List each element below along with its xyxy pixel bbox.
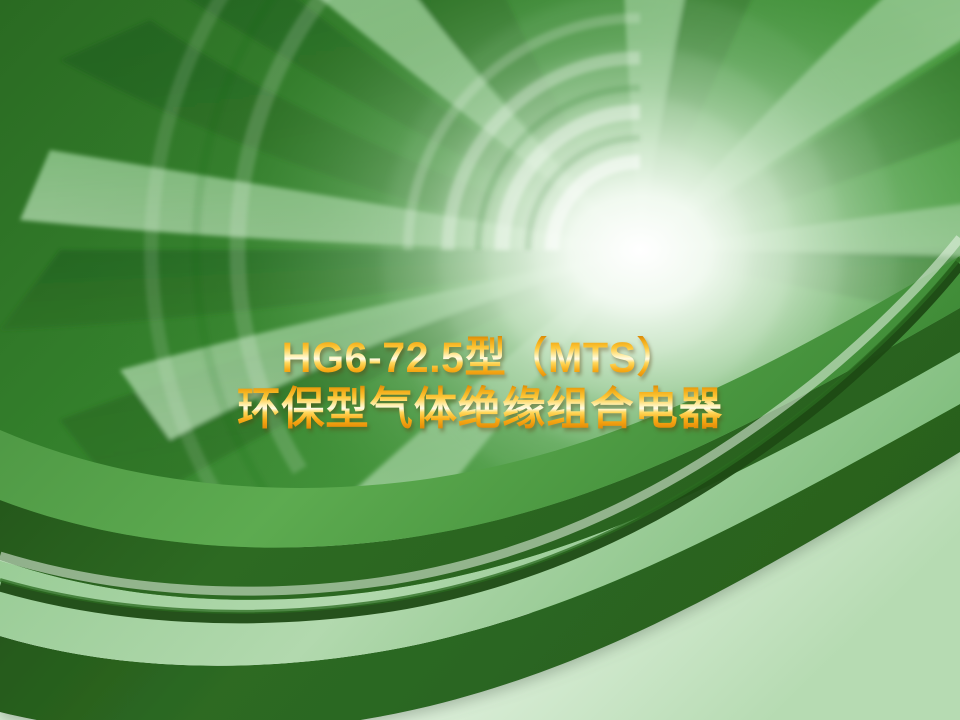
title-slide: HG6-72.5型（MTS） 环保型气体绝缘组合电器 — [0, 0, 960, 720]
slide-background-artwork — [0, 0, 960, 720]
